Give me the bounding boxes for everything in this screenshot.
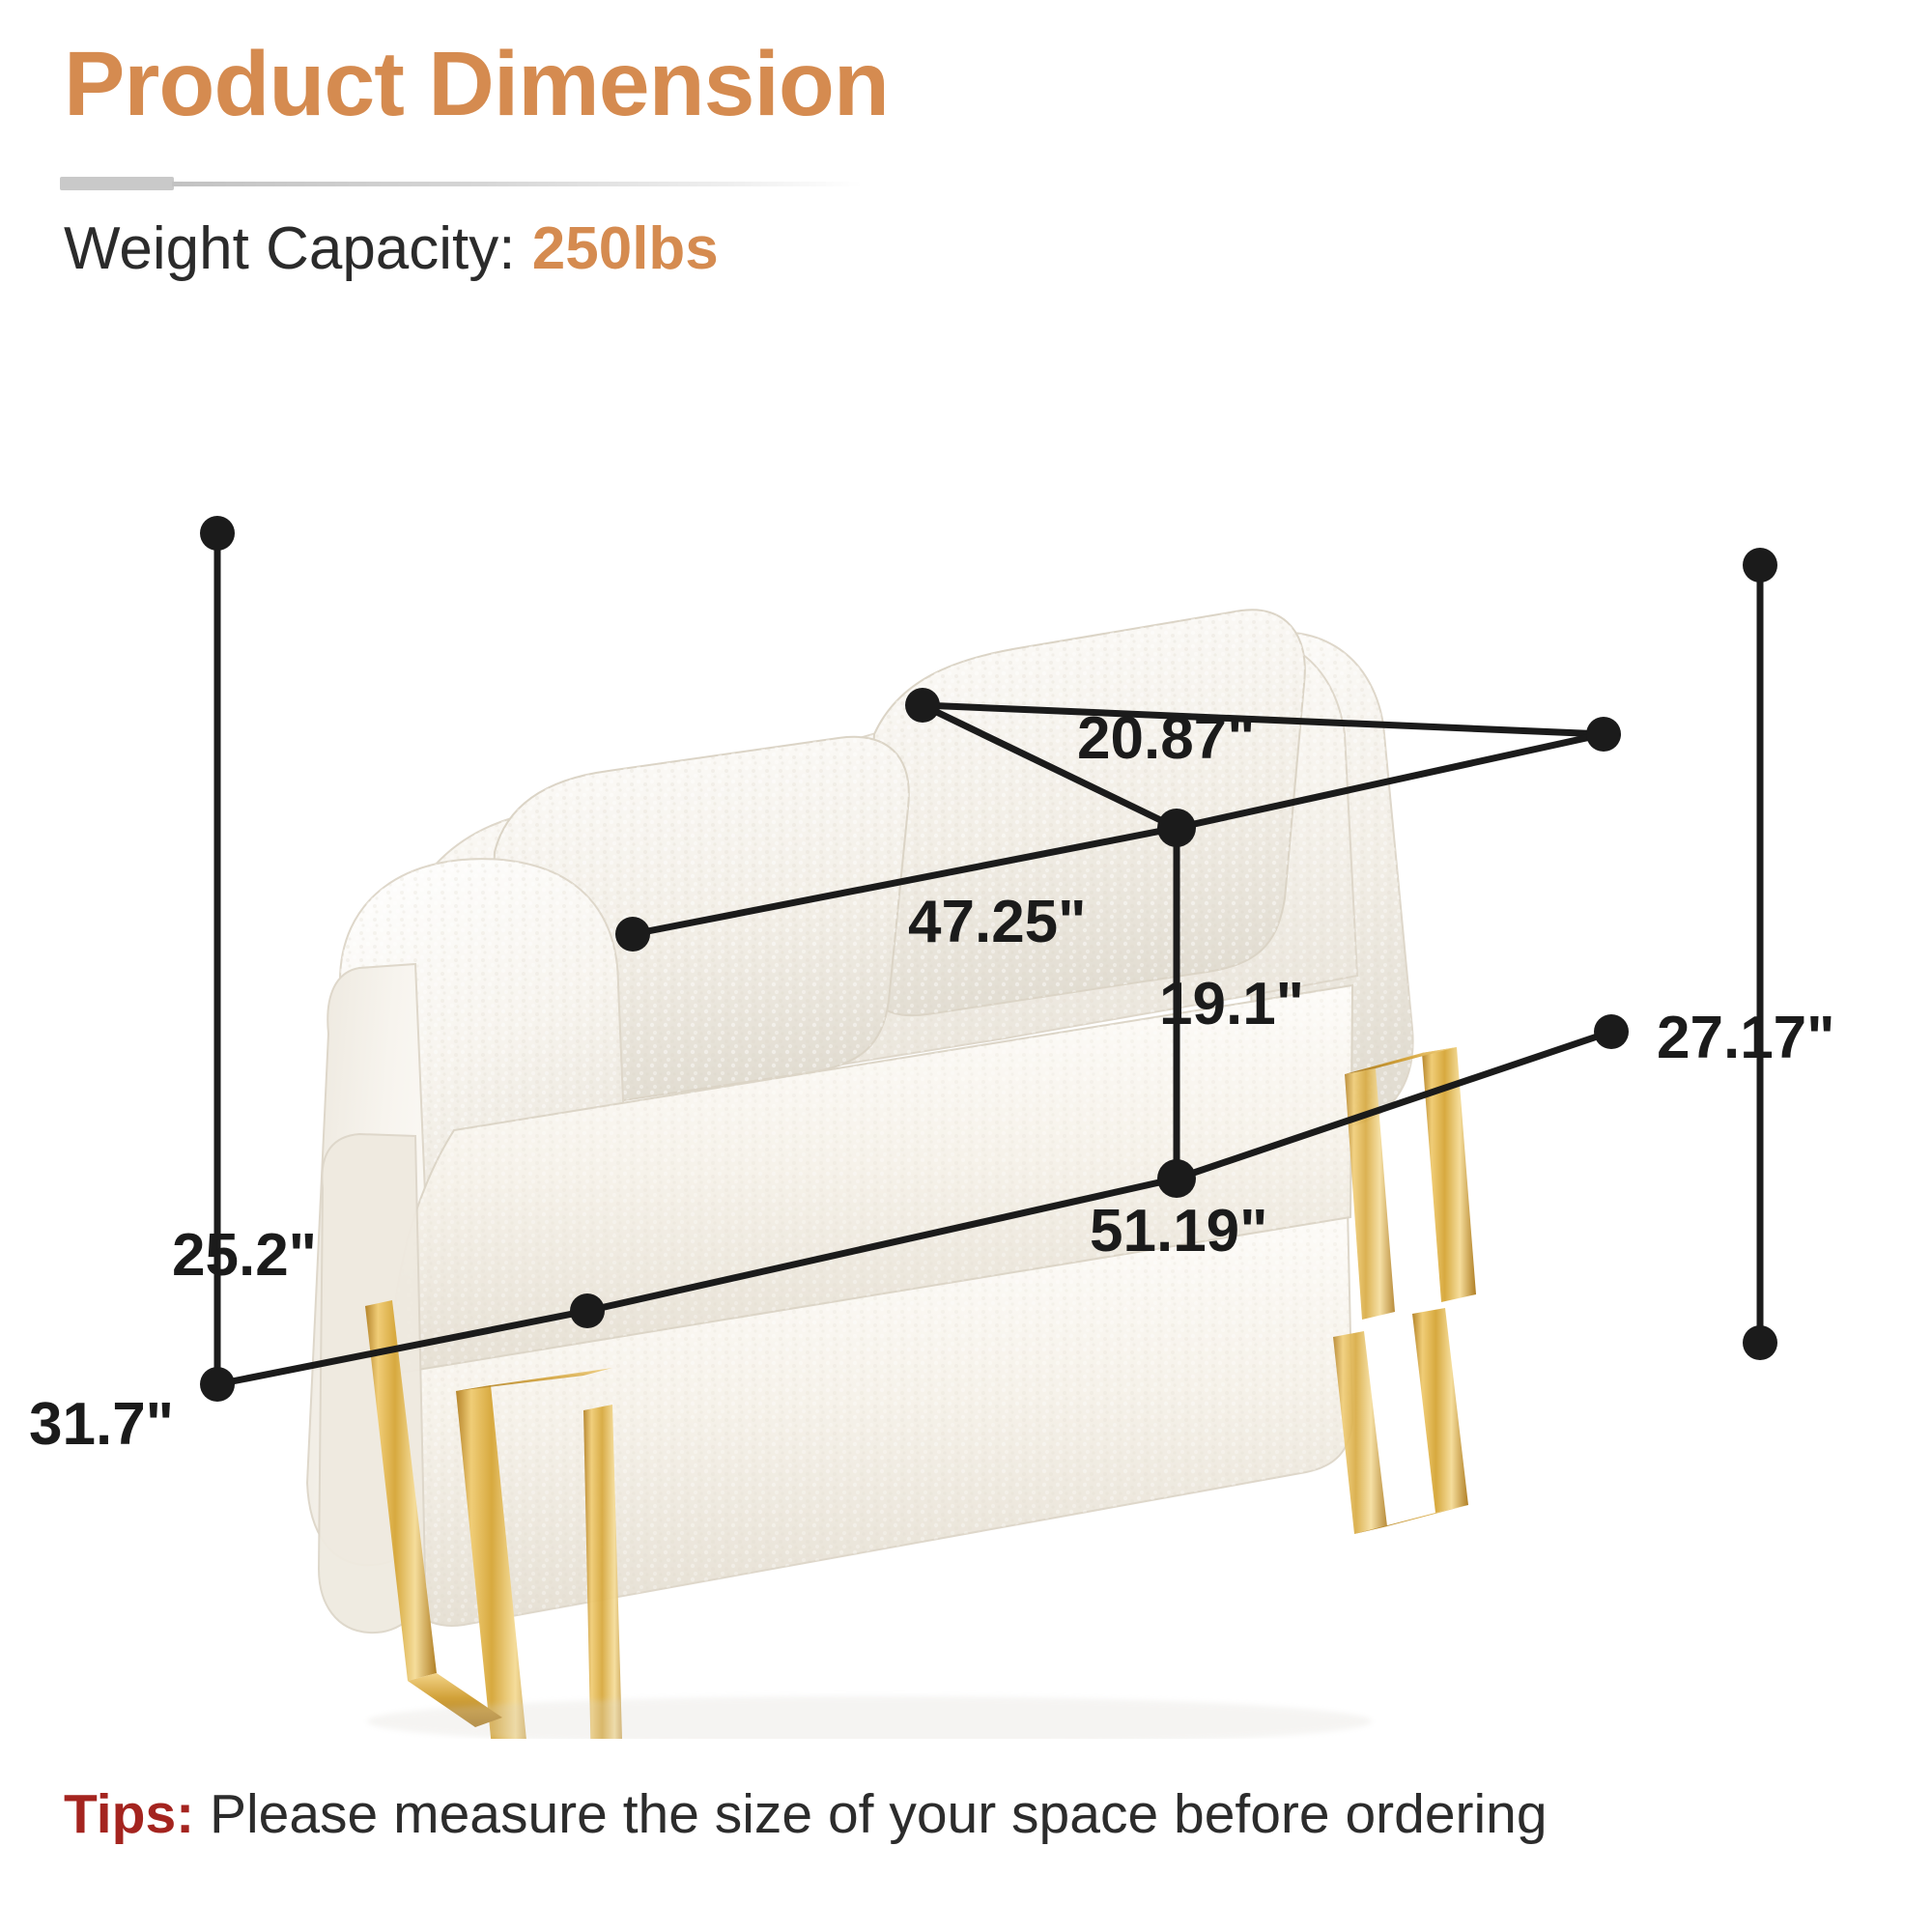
divider-thick-segment <box>60 177 174 190</box>
dimension-label-overall-width: 51.19" <box>1090 1198 1268 1264</box>
sofa-illustration <box>307 610 1476 1739</box>
dimension-label-height: 31.7" <box>29 1391 174 1458</box>
marker-seat-depth-left <box>905 688 940 723</box>
tips-keyword: Tips: <box>64 1783 194 1845</box>
page-title: Product Dimension <box>64 37 889 133</box>
divider-thin-segment <box>172 182 862 186</box>
leg-right-rear <box>1345 1047 1476 1320</box>
dimension-label-back-height: 27.17" <box>1657 1005 1835 1071</box>
marker-back-height-bot <box>1743 1325 1777 1360</box>
marker-seat-width-left <box>615 917 650 952</box>
title-divider <box>60 177 862 190</box>
dimension-label-overall-depth: 25.2" <box>172 1222 317 1289</box>
tips-text: Please measure the size of your space be… <box>210 1783 1548 1845</box>
weight-capacity-label: Weight Capacity: <box>64 215 516 282</box>
marker-seat-depth-right <box>1586 717 1621 752</box>
product-dimension-page: Product Dimension Weight Capacity: 250lb… <box>0 0 1932 1932</box>
tips-line: Tips: Please measure the size of your sp… <box>64 1782 1548 1846</box>
marker-overall-width-end <box>1594 1014 1629 1049</box>
weight-capacity-line: Weight Capacity: 250lbs <box>64 214 719 283</box>
dimension-diagram: 31.7" 20.87" 47.25" 19.1" 51.19" 25.2" 2… <box>0 319 1932 1739</box>
marker-corner-bottom <box>1157 1159 1196 1198</box>
leg-front-right <box>1333 1308 1468 1534</box>
sofa-diagram-svg: 31.7" 20.87" 47.25" 19.1" 51.19" 25.2" 2… <box>0 319 1932 1739</box>
dimension-label-seat-width: 47.25" <box>908 889 1087 955</box>
marker-corner-center <box>1157 809 1196 847</box>
dimension-label-seat-depth: 20.87" <box>1077 705 1256 772</box>
marker-back-height-top <box>1743 548 1777 582</box>
dimension-label-seat-height: 19.1" <box>1159 971 1304 1037</box>
marker-depth-end <box>570 1293 605 1328</box>
weight-capacity-value: 250lbs <box>532 215 719 282</box>
marker-height-top <box>200 516 235 551</box>
marker-height-bottom <box>200 1367 235 1402</box>
